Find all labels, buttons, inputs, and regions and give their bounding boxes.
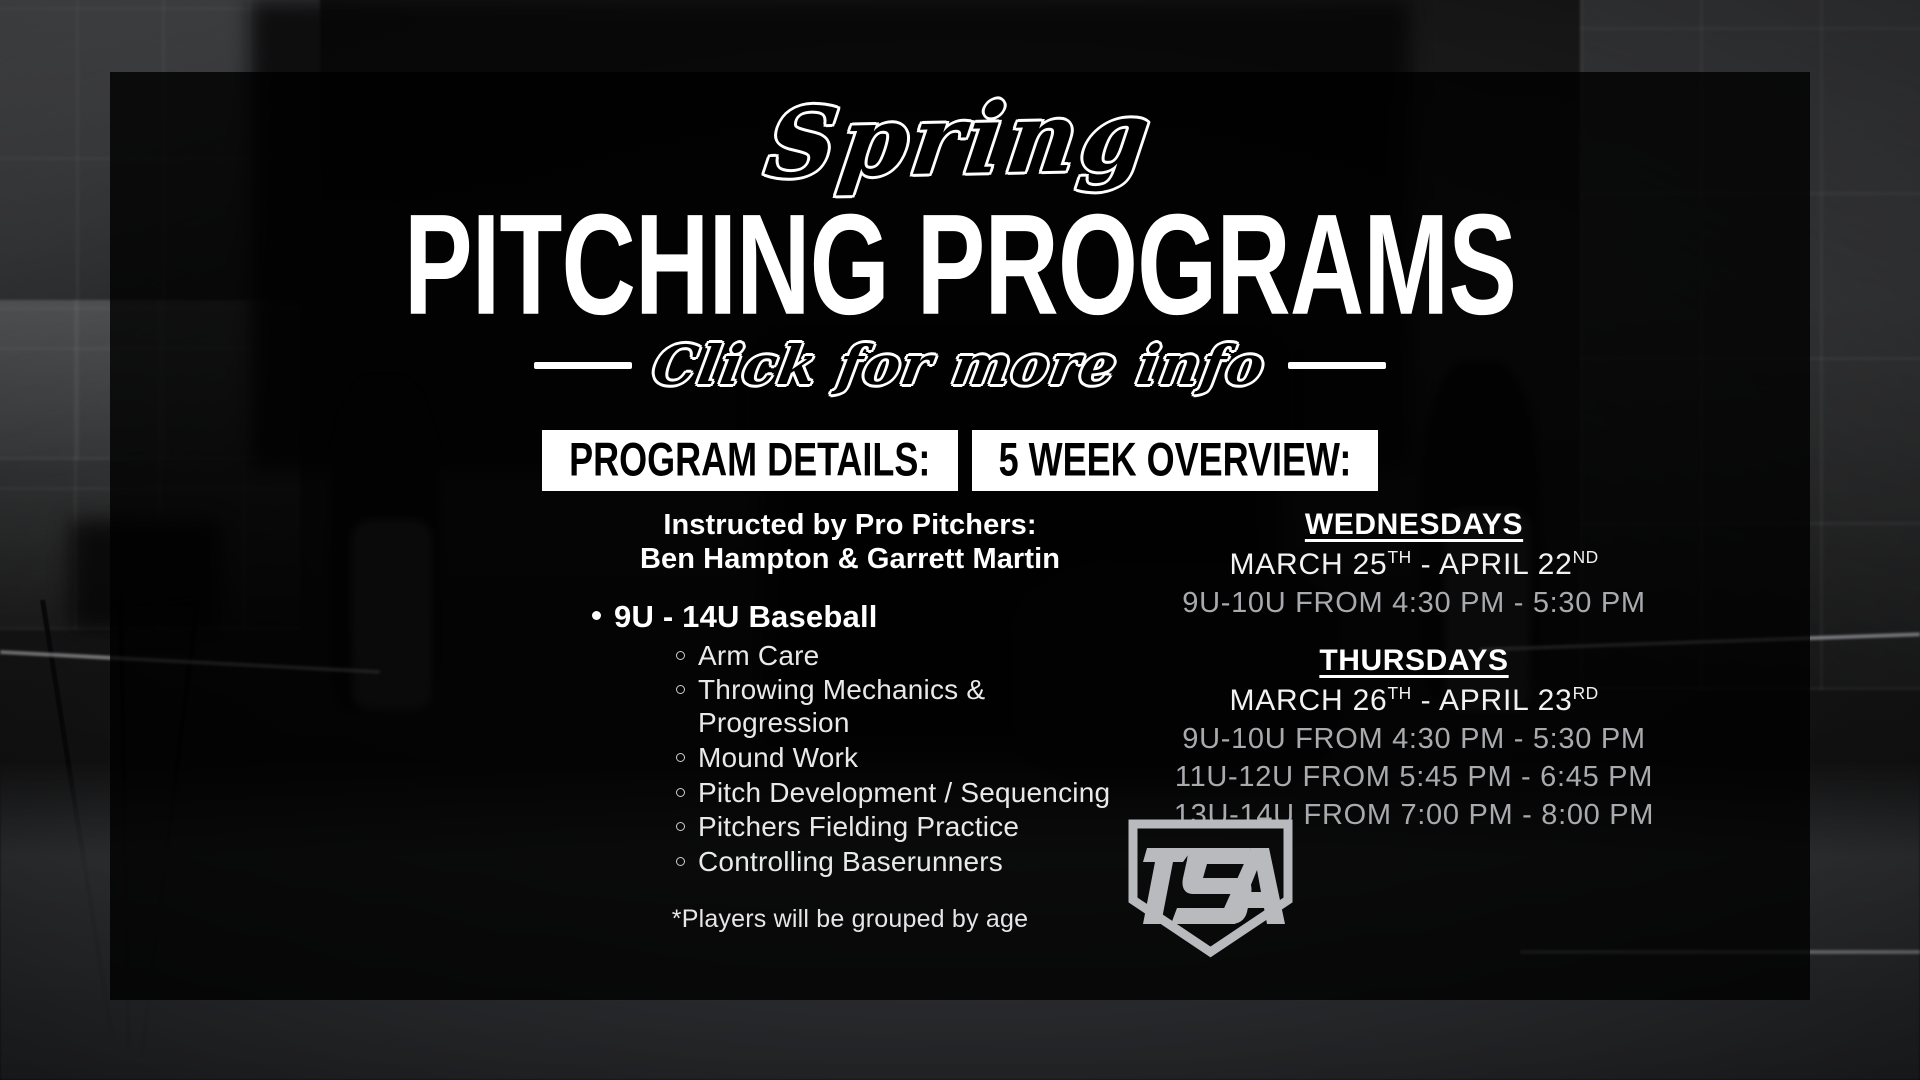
- section-header-row: PROGRAM DETAILS: 5 WEEK OVERVIEW:: [0, 430, 1920, 491]
- bullet-hollow-icon: [676, 685, 685, 694]
- date-start: MARCH 26: [1229, 684, 1387, 717]
- bullet-hollow-icon: [676, 822, 685, 831]
- time-slot: 9U-10U FROM 4:30 PM - 5:30 PM: [1154, 723, 1674, 756]
- bullet-filled-icon: [592, 611, 601, 620]
- date-start-ordinal: TH: [1388, 683, 1412, 703]
- instructor-names: Ben Hampton & Garrett Martin: [570, 542, 1130, 576]
- age-grouping-footnote: *Players will be grouped by age: [570, 905, 1130, 934]
- age-group-label: 9U - 14U Baseball: [614, 599, 878, 634]
- list-item: Mound Work: [614, 742, 1130, 775]
- program-list: 9U - 14U Baseball Arm Care Throwing Mech…: [570, 598, 1130, 878]
- rule-left-icon: [534, 362, 632, 369]
- list-item: Controlling Baserunners: [614, 846, 1130, 879]
- topic-label: Pitchers Fielding Practice: [698, 811, 1019, 842]
- day-label: THURSDAYS: [1319, 644, 1508, 678]
- date-end: APRIL 22: [1439, 548, 1573, 581]
- poster-stage: Spring PITCHING PROGRAMS Click for more …: [0, 0, 1920, 1080]
- date-end-ordinal: ND: [1573, 547, 1599, 567]
- bullet-hollow-icon: [676, 788, 685, 797]
- date-start-ordinal: TH: [1388, 547, 1412, 567]
- topic-label: Mound Work: [698, 742, 858, 773]
- topic-label: Throwing Mechanics & Progression: [698, 674, 985, 738]
- date-separator: -: [1412, 548, 1439, 581]
- section-header-overview-label: 5 WEEK OVERVIEW:: [999, 434, 1352, 487]
- topic-list: Arm Care Throwing Mechanics & Progressio…: [614, 640, 1130, 879]
- topic-label: Controlling Baserunners: [698, 846, 1003, 877]
- cta-banner[interactable]: Click for more info: [0, 330, 1920, 400]
- cta-text[interactable]: Click for more info: [649, 333, 1272, 397]
- instructor-block: Instructed by Pro Pitchers: Ben Hampton …: [570, 508, 1130, 576]
- section-header-program-details-label: PROGRAM DETAILS:: [569, 434, 930, 487]
- time-slot: 9U-10U FROM 4:30 PM - 5:30 PM: [1154, 587, 1674, 620]
- program-details-column: Instructed by Pro Pitchers: Ben Hampton …: [570, 508, 1130, 928]
- topic-label: Pitch Development / Sequencing: [698, 777, 1110, 808]
- list-item-age-group: 9U - 14U Baseball Arm Care Throwing Mech…: [570, 598, 1130, 878]
- date-end-ordinal: RD: [1573, 683, 1599, 703]
- date-range: MARCH 26TH - APRIL 23RD: [1154, 683, 1674, 718]
- date-range: MARCH 25TH - APRIL 22ND: [1154, 547, 1674, 582]
- content-columns: Instructed by Pro Pitchers: Ben Hampton …: [110, 508, 1810, 928]
- bullet-hollow-icon: [676, 651, 685, 660]
- page-title: PITCHING PROGRAMS: [77, 196, 1843, 334]
- list-item: Pitch Development / Sequencing: [614, 777, 1130, 810]
- date-end: APRIL 23: [1439, 684, 1573, 717]
- list-item: Pitchers Fielding Practice: [614, 811, 1130, 844]
- list-item: Arm Care: [614, 640, 1130, 673]
- instructor-heading: Instructed by Pro Pitchers:: [570, 508, 1130, 542]
- time-slot: 11U-12U FROM 5:45 PM - 6:45 PM: [1154, 761, 1674, 794]
- topic-label: Arm Care: [698, 640, 819, 671]
- schedule-block-thursdays: THURSDAYS MARCH 26TH - APRIL 23RD 9U-10U…: [1154, 644, 1674, 832]
- tsa-logo: [1123, 812, 1298, 962]
- rule-right-icon: [1288, 362, 1386, 369]
- day-label: WEDNESDAYS: [1305, 508, 1523, 542]
- date-start: MARCH 25: [1229, 548, 1387, 581]
- bullet-hollow-icon: [676, 857, 685, 866]
- bullet-hollow-icon: [676, 753, 685, 762]
- schedule-block-wednesdays: WEDNESDAYS MARCH 25TH - APRIL 22ND 9U-10…: [1154, 508, 1674, 620]
- section-header-program-details: PROGRAM DETAILS:: [542, 430, 958, 491]
- section-header-overview: 5 WEEK OVERVIEW:: [972, 430, 1378, 491]
- list-item: Throwing Mechanics & Progression: [614, 674, 1130, 740]
- date-separator: -: [1412, 684, 1439, 717]
